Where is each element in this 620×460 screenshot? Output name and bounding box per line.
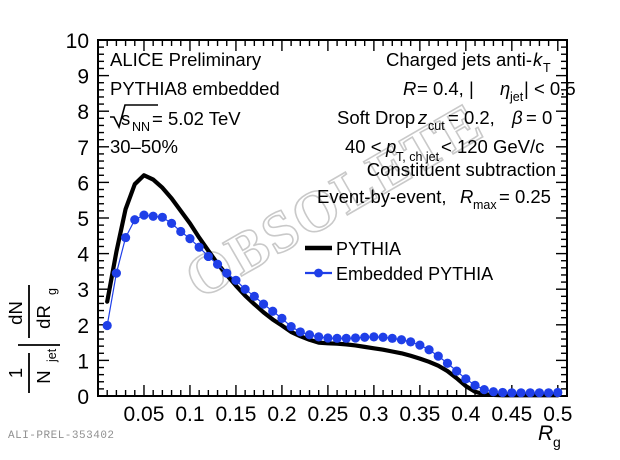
y-title-dN: dN	[5, 301, 26, 325]
ann-s-sub: NN	[132, 120, 150, 134]
x-tick-label: 0.35	[399, 403, 440, 426]
ann-softdrop-text: Soft Drop	[337, 107, 415, 128]
series-marker-1	[103, 321, 112, 330]
ann-beta-symbol: β	[511, 107, 523, 128]
ann-R-eta: R = 0.4, | η jet | < 0.5	[403, 78, 576, 104]
x-title-R: R	[538, 422, 553, 445]
series-marker-1	[333, 334, 342, 343]
series-marker-1	[544, 388, 553, 397]
ann-ebe-text: Event-by-event,	[317, 186, 447, 207]
y-title-1: 1	[5, 368, 26, 378]
series-marker-1	[250, 292, 259, 301]
y-tick-label: 3	[77, 279, 89, 302]
series-marker-1	[369, 332, 378, 341]
y-tick-label: 8	[77, 101, 89, 124]
series-marker-1	[121, 233, 130, 242]
ann-zcut-symbol: z	[417, 107, 427, 128]
x-tick-label: 0.05	[124, 403, 165, 426]
ann-zcut-value: = 0.2,	[448, 107, 495, 128]
series-marker-1	[535, 388, 544, 397]
series-marker-1	[452, 366, 461, 375]
series-marker-1	[323, 333, 332, 342]
y-title-dR-sub: g	[45, 288, 59, 295]
y-tick-label: 0	[77, 386, 89, 409]
annotation-block-left: ALICE Preliminary PYTHIA8 embedded s NN …	[110, 49, 280, 157]
series-marker-1	[470, 381, 479, 390]
y-tick-label: 7	[77, 137, 89, 160]
series-marker-1	[296, 327, 305, 336]
series-marker-1	[480, 385, 489, 394]
ann-s-symbol: s	[121, 108, 130, 129]
x-tick-label: 0.2	[267, 403, 296, 426]
series-marker-1	[360, 333, 369, 342]
series-marker-1	[526, 388, 535, 397]
ann-charged-jets: Charged jets anti- k T	[386, 49, 551, 75]
y-tick-label: 9	[77, 66, 89, 89]
series-marker-1	[231, 276, 240, 285]
legend-label-pythia: PYTHIA	[336, 239, 401, 259]
x-axis-title: R g	[538, 422, 561, 450]
series-line-1	[107, 215, 558, 393]
x-tick-label: 0.45	[491, 403, 532, 426]
ann-p-symbol: p	[385, 136, 396, 157]
plot-svg: 1 N jet dN dR g 0.050.10.150.20.250.30.3…	[0, 0, 620, 455]
ann-pt-low: 40 <	[345, 136, 382, 157]
ann-eta-range: | < 0.5	[524, 78, 576, 99]
ann-pythia8-embedded: PYTHIA8 embedded	[110, 78, 280, 99]
legend-marker-embedded	[314, 269, 323, 278]
y-title-dR: dR	[33, 305, 54, 329]
ann-eta-symbol: η	[500, 78, 510, 99]
ann-Rmax-value: = 0.25	[499, 186, 551, 207]
x-tick-label: 0.1	[175, 403, 204, 426]
x-tick-label: 0.15	[216, 403, 257, 426]
series-marker-1	[507, 388, 516, 397]
series-marker-1	[176, 227, 185, 236]
ann-zcut-sub: cut	[428, 119, 445, 133]
y-title-N-sub: jet	[45, 348, 59, 363]
series-marker-1	[259, 300, 268, 309]
legend-label-embedded-pythia: Embedded PYTHIA	[336, 264, 493, 284]
series-marker-1	[130, 215, 139, 224]
series-marker-1	[397, 335, 406, 344]
ann-R-symbol: R	[403, 78, 416, 99]
series-marker-1	[241, 285, 250, 294]
series-marker-1	[158, 213, 167, 222]
series-marker-1	[149, 212, 158, 221]
x-tick-label: 0.3	[359, 403, 388, 426]
series-marker-1	[489, 387, 498, 396]
series-marker-1	[406, 337, 415, 346]
y-title-N: N	[33, 370, 54, 383]
series-marker-1	[443, 359, 452, 368]
ann-sqrt-snn: s NN = 5.02 TeV	[110, 105, 241, 134]
series-marker-1	[314, 332, 323, 341]
ann-constituent-subtraction: Constituent subtraction	[367, 159, 556, 180]
series-marker-1	[424, 345, 433, 354]
series-marker-1	[139, 211, 148, 220]
series-marker-1	[305, 330, 314, 339]
y-tick-label: 5	[77, 208, 89, 231]
y-tick-label: 4	[77, 244, 89, 267]
x-title-sub: g	[553, 434, 561, 450]
series-marker-1	[553, 388, 562, 397]
ann-charged-jets-text: Charged jets anti-	[386, 49, 532, 70]
series-marker-1	[516, 388, 525, 397]
y-tick-label: 2	[77, 315, 89, 338]
ann-beta-value: = 0	[526, 107, 552, 128]
series-marker-1	[378, 333, 387, 342]
series-marker-1	[287, 322, 296, 331]
legend-item-embedded-pythia[interactable]: Embedded PYTHIA	[305, 264, 493, 284]
ann-Rmax-sub: max	[473, 198, 497, 212]
series-marker-1	[167, 219, 176, 228]
x-tick-label: 0.4	[451, 403, 481, 426]
ann-sqrt-value: = 5.02 TeV	[152, 108, 241, 129]
series-marker-1	[112, 269, 121, 278]
series-marker-1	[388, 334, 397, 343]
series-marker-1	[204, 252, 213, 261]
credit-label: ALI-PREL-353402	[8, 430, 115, 442]
series-marker-1	[213, 260, 222, 269]
y-tick-label: 1	[77, 350, 89, 373]
legend: PYTHIA Embedded PYTHIA	[305, 239, 493, 284]
series-marker-1	[268, 307, 277, 316]
y-tick-label: 6	[77, 172, 89, 195]
series-marker-1	[415, 340, 424, 349]
series-marker-1	[434, 352, 443, 361]
x-tick-label: 0.25	[307, 403, 348, 426]
ann-eta-sub: jet	[509, 90, 524, 104]
series-marker-1	[222, 269, 231, 278]
series-marker-1	[498, 388, 507, 397]
ann-R-value: = 0.4, |	[417, 78, 474, 99]
ann-pt-high: < 120 GeV/c	[441, 136, 544, 157]
figure-root: 1 N jet dN dR g 0.050.10.150.20.250.30.3…	[0, 0, 620, 455]
series-marker-1	[195, 243, 204, 252]
y-axis-title: 1 N jet dN dR g	[5, 285, 60, 393]
y-tick-label: 10	[66, 30, 89, 53]
ann-alice-preliminary: ALICE Preliminary	[110, 49, 262, 70]
series-marker-1	[185, 234, 194, 243]
ann-centrality: 30–50%	[110, 136, 178, 157]
series-marker-1	[277, 314, 286, 323]
ann-Rmax-symbol: R	[460, 186, 473, 207]
series-marker-1	[351, 333, 360, 342]
ann-kt-sub: T	[543, 61, 551, 75]
series-marker-1	[461, 374, 470, 383]
series-marker-1	[342, 334, 351, 343]
